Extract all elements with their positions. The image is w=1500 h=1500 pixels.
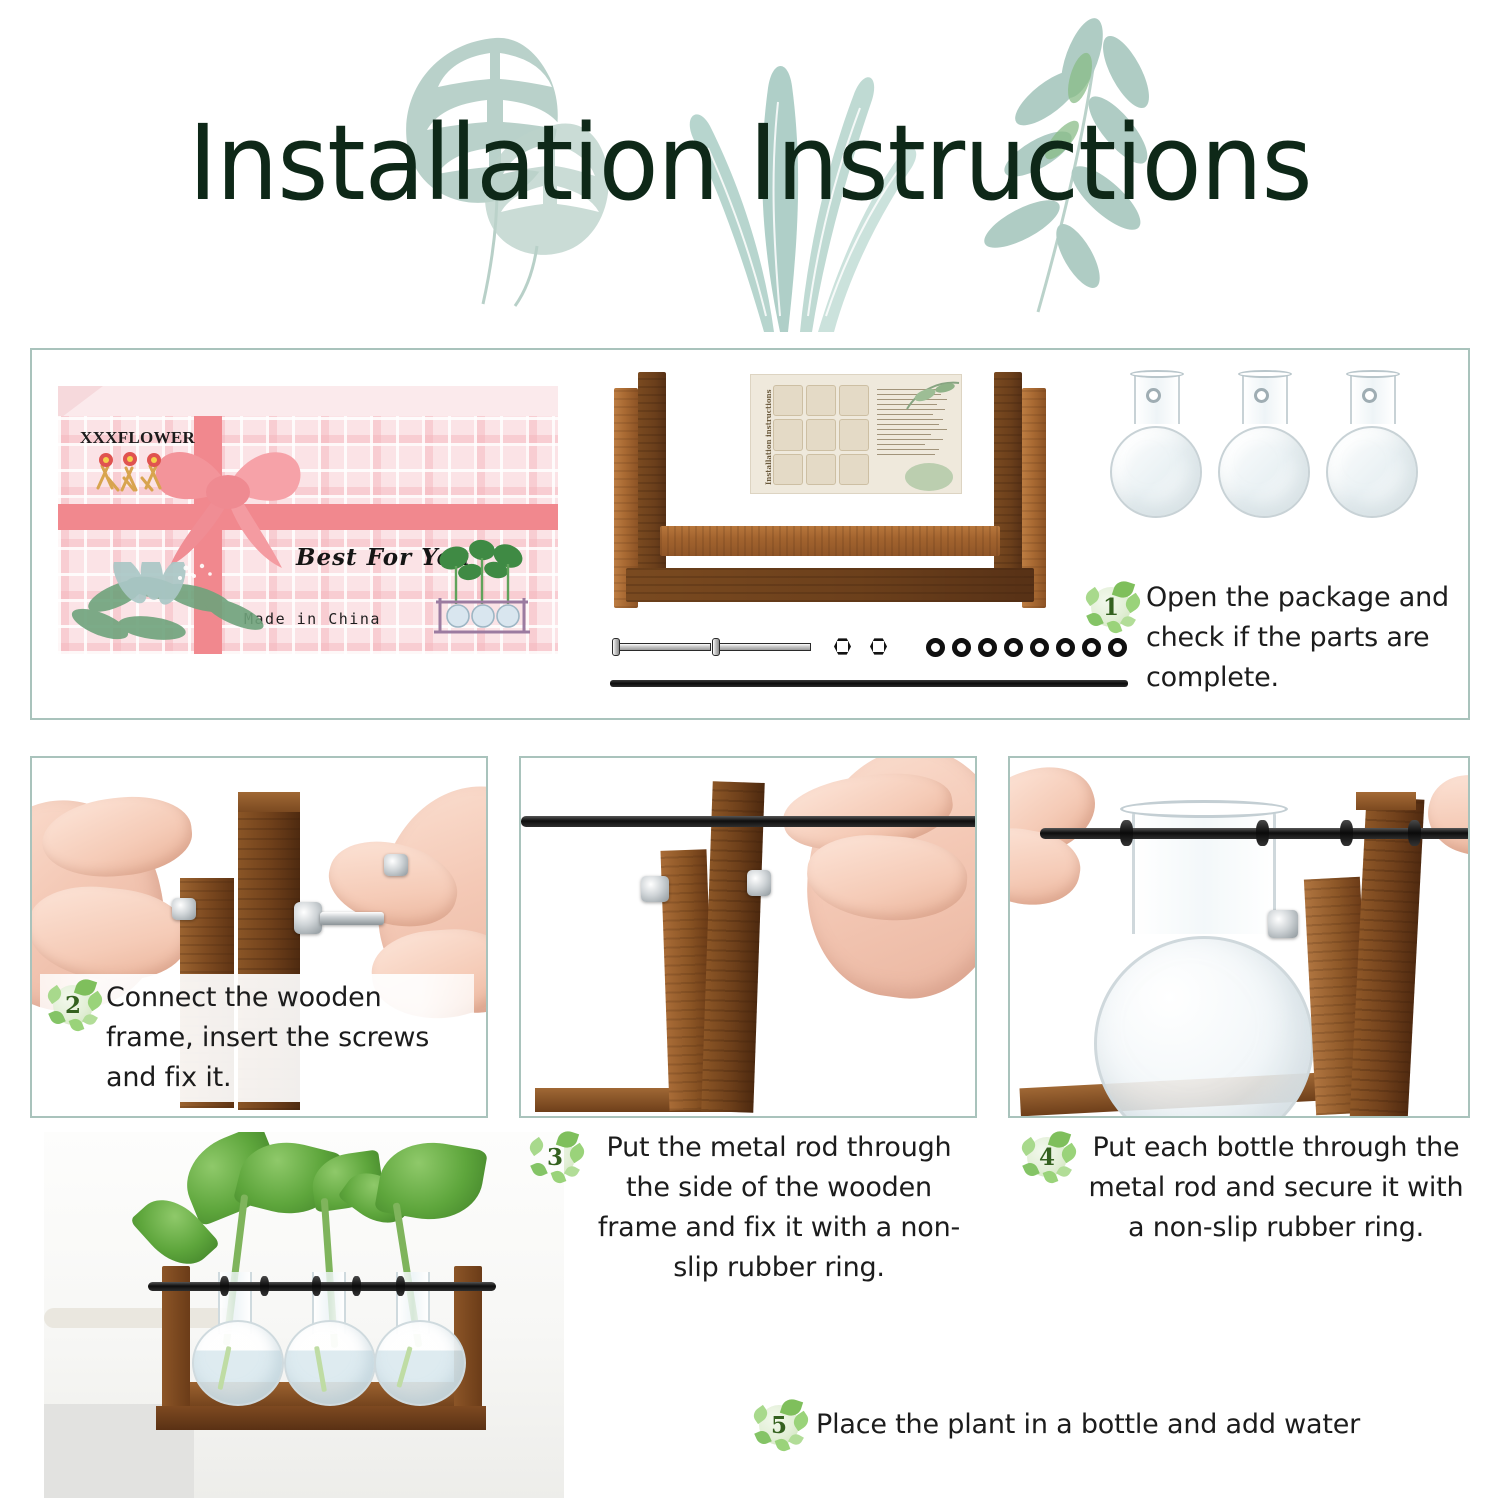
rubber-ring-5	[1030, 638, 1049, 657]
step-4-badge: 4	[1020, 1130, 1074, 1184]
stand-ring-1	[220, 1276, 229, 1296]
step-2-panel: 2 Connect the wooden frame, insert the s…	[30, 756, 488, 1118]
step-3-caption: 3 Put the metal rod through the side of …	[528, 1128, 968, 1288]
glass-bottle-3	[1326, 372, 1422, 518]
card-side-title: Installation instructions	[764, 389, 773, 485]
wood-piece-top-face	[238, 792, 300, 812]
bolt-head	[1268, 910, 1298, 938]
bottle-bulb-3	[374, 1320, 466, 1406]
step-2-caption: 2 Connect the wooden frame, insert the s…	[40, 974, 474, 1102]
step-2-photo: 2 Connect the wooden frame, insert the s…	[32, 758, 486, 1116]
step-5-number: 5	[752, 1398, 806, 1452]
finished-product-photo	[44, 1132, 564, 1498]
step-2-number: 2	[46, 978, 100, 1032]
rubber-ring-6	[1056, 638, 1075, 657]
screw-1	[612, 638, 712, 656]
rubber-ring-2	[952, 638, 971, 657]
card-leaf-decoration-2	[901, 459, 957, 493]
rubber-ring-4	[1004, 638, 1023, 657]
step-3-text: Put the metal rod through the side of th…	[590, 1128, 968, 1288]
screw-head-right	[294, 902, 322, 934]
step-1-caption: 1 Open the package and check if the part…	[1084, 578, 1454, 698]
box-product-illustration	[426, 536, 538, 644]
card-thumbnail-grid	[773, 385, 869, 485]
step-5-caption: 5 Place the plant in a bottle and add wa…	[752, 1398, 1392, 1452]
metal-rod-tip	[873, 816, 975, 827]
step-3-badge: 3	[528, 1130, 582, 1184]
box-brand-label: XXXFLOWER	[80, 428, 195, 448]
metal-rod-part	[610, 680, 1128, 687]
bottle-bulb-2	[284, 1320, 376, 1406]
right-finger	[1419, 765, 1468, 865]
metal-rod	[1040, 828, 1468, 839]
stand-ring-2	[260, 1276, 269, 1296]
bolt-head-right	[747, 870, 771, 896]
rubber-ring-end	[1408, 820, 1421, 846]
embroidered-flowers-icon	[90, 450, 178, 492]
stand-metal-rod	[148, 1282, 496, 1291]
rubber-ring-left	[1120, 820, 1133, 846]
step-4-caption: 4 Put each bottle through the metal rod …	[1020, 1128, 1470, 1248]
wood-top-face	[1356, 792, 1416, 810]
step-2-badge: 2	[46, 978, 100, 1032]
step-4-panel	[1008, 756, 1470, 1118]
rubber-ring-right	[1340, 820, 1353, 846]
step-1-text: Open the package and check if the parts …	[1146, 578, 1454, 698]
step-5-text: Place the plant in a bottle and add wate…	[816, 1405, 1360, 1445]
rubber-ring-3	[978, 638, 997, 657]
step-4-photo	[1010, 758, 1468, 1116]
screw-2	[712, 638, 812, 656]
rubber-ring-mid	[1256, 820, 1269, 846]
step-3-photo	[521, 758, 975, 1116]
stand-base-front	[156, 1406, 486, 1430]
step-1-badge: 1	[1084, 580, 1138, 634]
glass-bottle-2	[1218, 372, 1314, 518]
step-2-text: Connect the wooden frame, insert the scr…	[106, 978, 468, 1098]
step-3-panel	[519, 756, 977, 1118]
step-1-number: 1	[1084, 580, 1138, 634]
step-3-number: 3	[528, 1130, 582, 1184]
wood-upright-outer	[701, 781, 764, 1113]
card-leaf-decoration	[903, 379, 961, 413]
box-botanical-decoration	[68, 562, 278, 654]
stand-ring-3	[312, 1276, 321, 1296]
screw-shaft	[320, 912, 384, 925]
stand-ring-4	[352, 1276, 361, 1296]
bottle-bulb-1	[192, 1320, 284, 1406]
stand-ring-5	[396, 1276, 405, 1296]
rubber-ring-1	[926, 638, 945, 657]
screw-head-held	[384, 854, 408, 876]
screw-head-left	[172, 898, 196, 920]
step-5-badge: 5	[752, 1398, 806, 1452]
bolt-head-left	[641, 876, 669, 902]
glass-bottle-1	[1110, 372, 1206, 518]
page-header: Installation Instructions	[0, 0, 1500, 340]
parts-panel: XXXFLOWER Best For You Made in China	[30, 348, 1470, 720]
gift-box-image: XXXFLOWER Best For You Made in China	[58, 386, 558, 654]
glass-bottle-on-rod	[1094, 806, 1314, 1116]
instruction-card-image: Installation instructions	[750, 374, 962, 494]
step-4-number: 4	[1020, 1130, 1074, 1184]
step-4-text: Put each bottle through the metal rod an…	[1082, 1128, 1470, 1248]
page-title: Installation Instructions	[45, 108, 1455, 218]
